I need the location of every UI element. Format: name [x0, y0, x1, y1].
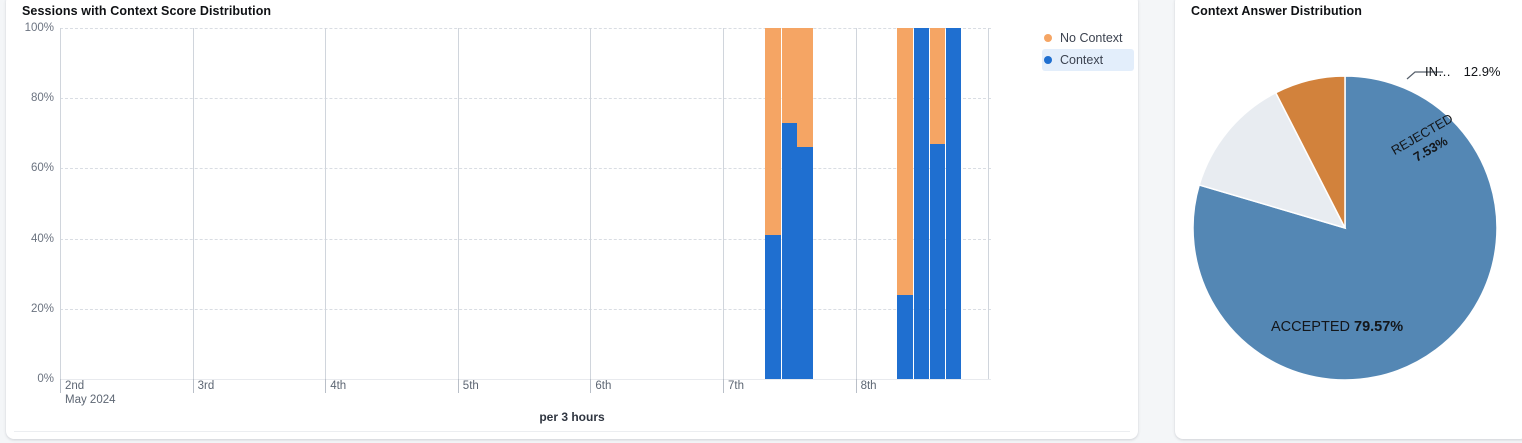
pie-label-invalid-value: 12.9%: [1464, 64, 1501, 79]
stacked-bar[interactable]: [946, 28, 962, 379]
pie-label-accepted: ACCEPTED 79.57%: [1271, 319, 1403, 335]
bar-segment-no-context[interactable]: [897, 28, 913, 295]
gridline-horizontal: [60, 309, 991, 310]
x-axis-tick-label: 5th: [458, 379, 479, 393]
y-axis-tick-label: 0%: [10, 373, 54, 385]
page-title: Sessions with Context Score Distribution: [22, 4, 271, 18]
bar-segment-context[interactable]: [914, 28, 930, 379]
x-axis-tick-label: 7th: [723, 379, 744, 393]
stacked-bar[interactable]: [765, 28, 781, 379]
x-axis-tick-label: 2ndMay 2024: [60, 379, 84, 393]
gridline-horizontal: [60, 168, 991, 169]
pie-label-invalid: IN… 12.9%: [1425, 64, 1501, 79]
x-axis-tick-sublabel: May 2024: [65, 393, 116, 407]
y-axis-tick-label: 20%: [10, 303, 54, 315]
legend-item-context[interactable]: Context: [1042, 49, 1134, 71]
gridline-vertical: [723, 28, 724, 379]
gridline-horizontal: [60, 239, 991, 240]
bar-segment-context[interactable]: [782, 123, 798, 379]
legend-item-label: Context: [1060, 53, 1103, 67]
stacked-bar[interactable]: [914, 28, 930, 379]
gridline-vertical: [325, 28, 326, 379]
y-axis-tick-label: 40%: [10, 233, 54, 245]
x-axis-tick-label: 8th: [856, 379, 877, 393]
chart-legend[interactable]: No ContextContext: [1042, 27, 1134, 71]
panel-divider: [14, 431, 1130, 432]
bar-segment-context[interactable]: [897, 295, 913, 379]
gridline-vertical: [60, 28, 61, 379]
pie-label-invalid-name: IN…: [1425, 64, 1451, 79]
stacked-bar[interactable]: [782, 28, 798, 379]
legend-color-dot: [1044, 34, 1052, 42]
bar-segment-no-context[interactable]: [797, 28, 813, 147]
bar-segment-context[interactable]: [946, 28, 962, 379]
y-axis-ticks: 100%80%60%40%20%0%: [6, 28, 54, 379]
gridline-vertical: [458, 28, 459, 379]
stacked-bar[interactable]: [897, 28, 913, 379]
gridline-vertical: [856, 28, 857, 379]
bar-segment-no-context[interactable]: [765, 28, 781, 235]
y-axis-tick-label: 100%: [10, 22, 54, 34]
bar-segment-no-context[interactable]: [930, 28, 946, 144]
gridline-horizontal: [60, 98, 991, 99]
sessions-context-score-panel: Sessions with Context Score Distribution…: [6, 0, 1138, 439]
pie-chart[interactable]: ACCEPTED 79.57% REJECTED 7.53% IN… 12.9%: [1175, 0, 1522, 439]
pie-label-accepted-value: 79.57%: [1354, 319, 1403, 335]
bar-segment-no-context[interactable]: [782, 28, 798, 123]
bar-segment-context[interactable]: [765, 235, 781, 379]
gridline-horizontal: [60, 28, 991, 29]
legend-item-no-context[interactable]: No Context: [1042, 27, 1134, 49]
gridline-vertical: [590, 28, 591, 379]
x-axis-tick-label: 3rd: [193, 379, 215, 393]
y-axis-tick-label: 60%: [10, 162, 54, 174]
stacked-bar[interactable]: [797, 28, 813, 379]
x-axis-tick-label: 6th: [590, 379, 611, 393]
legend-color-dot: [1044, 56, 1052, 64]
bar-segment-context[interactable]: [797, 147, 813, 379]
stacked-bar[interactable]: [930, 28, 946, 379]
pie-label-accepted-name: ACCEPTED: [1271, 319, 1350, 335]
gridline-vertical: [988, 28, 989, 379]
dashboard-root: Sessions with Context Score Distribution…: [0, 0, 1522, 443]
context-answer-distribution-panel: Context Answer Distribution ACCEPTED 79.…: [1175, 0, 1522, 439]
x-axis-title: per 3 hours: [6, 410, 1138, 424]
gridline-vertical: [193, 28, 194, 379]
bar-segment-context[interactable]: [930, 144, 946, 379]
bar-plot-area: [60, 28, 991, 379]
y-axis-tick-label: 80%: [10, 92, 54, 104]
legend-item-label: No Context: [1060, 31, 1123, 45]
x-axis-tick-label: 4th: [325, 379, 346, 393]
